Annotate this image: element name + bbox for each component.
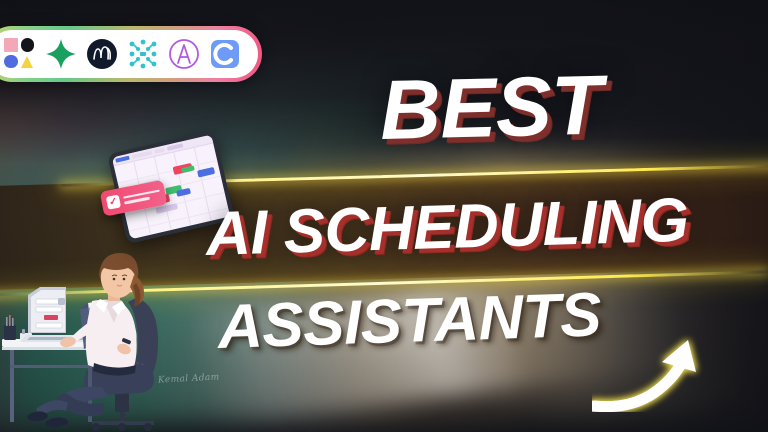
black-circle-shape [21,38,35,52]
woman-working-at-desk-illustration [0,243,226,432]
ai-tools-logo-pill [0,26,262,82]
thumbnail-canvas: Kemal Adam [0,0,768,432]
four-shapes-icon[interactable] [4,38,36,70]
headline-line-1: BEST [379,63,603,152]
pink-square-shape [4,38,18,52]
header-chip-blue [115,156,130,163]
curved-up-right-arrow-icon [592,332,722,412]
checkmark-icon: ✓ [106,194,121,209]
blue-circle-shape [4,55,18,69]
sparkle-star-icon[interactable] [45,38,77,70]
header-chip-2 [154,148,165,154]
yellow-triangle-shape [21,56,33,68]
a-in-circle-icon[interactable] [168,38,200,70]
c-in-square-icon[interactable] [209,38,241,70]
logo-pill-inner [0,30,258,78]
circle-m-icon[interactable] [86,38,118,70]
headline-line-3: ASSISTANTS [217,284,602,359]
headline-line-2: AI SCHEDULING [205,190,689,266]
card-text-lines [123,189,161,204]
node-graph-icon[interactable] [127,38,159,70]
